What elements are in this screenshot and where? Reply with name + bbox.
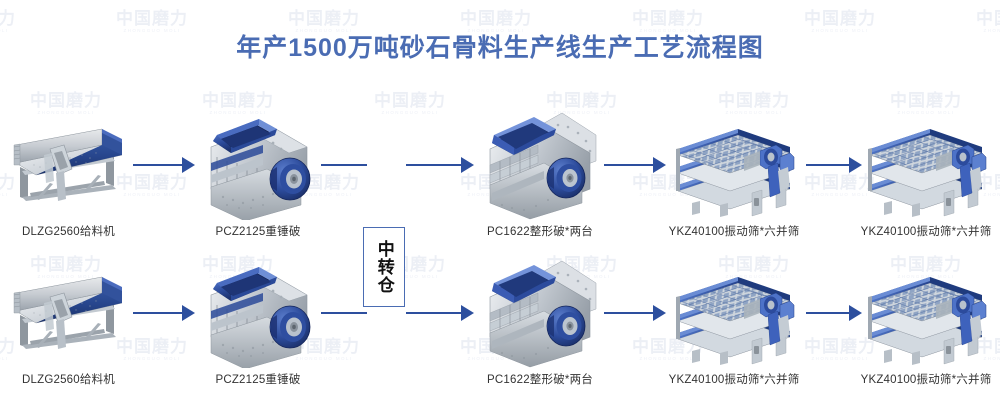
watermark-cn: 中国磨力 — [632, 10, 704, 28]
node-crusher1-top[interactable]: PCZ2125重锤破 — [197, 105, 319, 220]
flow-arrow — [321, 305, 367, 321]
node-label: YKZ40100振动筛*六并筛 — [860, 223, 992, 239]
flow-arrow — [133, 305, 195, 321]
watermark-cn: 中国磨力 — [0, 10, 16, 28]
flow-arrow — [321, 157, 367, 173]
node-label: YKZ40100振动筛*六并筛 — [668, 223, 800, 239]
flow-arrow — [806, 157, 862, 173]
vibrating-feeder-icon — [6, 105, 131, 220]
flow-arrow — [406, 305, 474, 321]
flow-arrow — [806, 305, 862, 321]
node-label: PC1622整形破*两台 — [478, 223, 602, 239]
node-crusher1-bottom[interactable]: PCZ2125重锤破 — [197, 253, 319, 368]
watermark-cn: 中国磨力 — [804, 10, 876, 28]
node-label: YKZ40100振动筛*六并筛 — [668, 371, 800, 387]
shaping-crusher-icon — [478, 253, 602, 368]
flow-arrow — [406, 157, 474, 173]
node-crusher2-top[interactable]: PC1622整形破*两台 — [478, 105, 602, 220]
node-screen1-bottom[interactable]: YKZ40100振动筛*六并筛 — [668, 253, 800, 368]
hammer-crusher-icon — [197, 253, 319, 368]
watermark-cn: 中国磨力 — [976, 10, 1000, 28]
hammer-crusher-icon — [197, 105, 319, 220]
flow-arrow — [133, 157, 195, 173]
node-screen1-top[interactable]: YKZ40100振动筛*六并筛 — [668, 105, 800, 220]
node-feeder-top[interactable]: DLZG2560给料机 — [6, 105, 131, 220]
vibrating-screen-icon — [668, 253, 800, 368]
node-label: PC1622整形破*两台 — [478, 371, 602, 387]
node-label: DLZG2560给料机 — [6, 371, 131, 387]
flow-arrow — [604, 305, 666, 321]
node-label: YKZ40100振动筛*六并筛 — [860, 371, 992, 387]
node-screen2-top[interactable]: YKZ40100振动筛*六并筛 — [860, 105, 992, 220]
vibrating-feeder-icon — [6, 253, 131, 368]
flow-row-top: DLZG2560给料机 — [0, 105, 1000, 250]
flow-row-bottom: DLZG2560给料机 — [0, 253, 1000, 398]
node-label: PCZ2125重锤破 — [197, 223, 319, 239]
process-flow-diagram: 中国磨力ZHONGGUO MOLI中国磨力ZHONGGUO MOLI中国磨力ZH… — [0, 0, 1000, 400]
node-screen2-bottom[interactable]: YKZ40100振动筛*六并筛 — [860, 253, 992, 368]
vibrating-screen-icon — [668, 105, 800, 220]
page-title: 年产1500万吨砂石骨料生产线生产工艺流程图 — [0, 28, 1000, 64]
shaping-crusher-icon — [478, 105, 602, 220]
flow-arrow — [604, 157, 666, 173]
node-crusher2-bottom[interactable]: PC1622整形破*两台 — [478, 253, 602, 368]
vibrating-screen-icon — [860, 253, 992, 368]
node-feeder-bottom[interactable]: DLZG2560给料机 — [6, 253, 131, 368]
watermark-cn: 中国磨力 — [460, 10, 532, 28]
node-label: DLZG2560给料机 — [6, 223, 131, 239]
watermark-cn: 中国磨力 — [116, 10, 188, 28]
vibrating-screen-icon — [860, 105, 992, 220]
node-label: PCZ2125重锤破 — [197, 371, 319, 387]
watermark-cn: 中国磨力 — [288, 10, 360, 28]
